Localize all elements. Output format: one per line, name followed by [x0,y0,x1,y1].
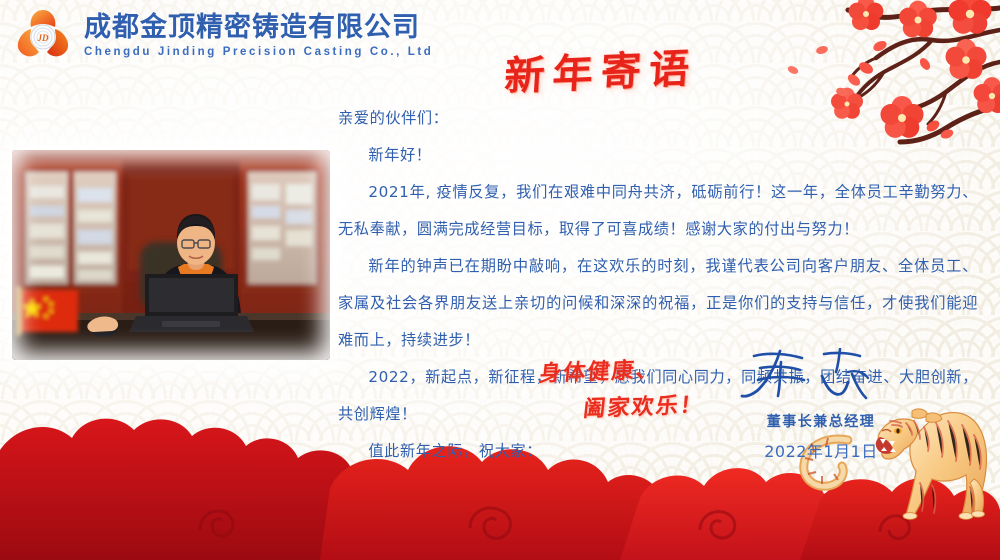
svg-text:JD: JD [37,33,50,43]
new-year-greeting-card: JD 成都金顶精密铸造有限公司 Chengdu Jinding Precisio… [0,0,1000,560]
letter-greeting: 新年好！ [338,137,978,174]
company-logo-icon: JD [14,6,72,64]
letter-paragraph-1: 2021年, 疫情反复，我们在艰难中同舟共济，砥砺前行！这一年，全体员工辛勤努力… [338,174,978,248]
letter-salutation: 亲爱的伙伴们： [338,100,978,137]
page-title: 新年寄语 [503,36,699,102]
company-header: JD 成都金顶精密铸造有限公司 Chengdu Jinding Precisio… [14,6,433,64]
letter-paragraph-2: 新年的钟声已在期盼中敲响，在这欢乐的时刻，我谨代表公司向客户朋友、全体员工、家属… [338,248,978,359]
company-name-cn: 成都金顶精密铸造有限公司 [84,12,433,43]
company-name-en: Chengdu Jinding Precision Casting Co., L… [84,46,433,58]
blessing-block: 身体健康、 阖家欢乐！ [540,352,760,420]
company-name-block: 成都金顶精密铸造有限公司 Chengdu Jinding Precision C… [84,12,433,58]
roaring-tiger-mascot-icon [870,387,998,522]
photo-image [12,150,330,360]
blessing-line-1: 身体健康、 [538,348,762,388]
chairwoman-photo [12,150,330,360]
